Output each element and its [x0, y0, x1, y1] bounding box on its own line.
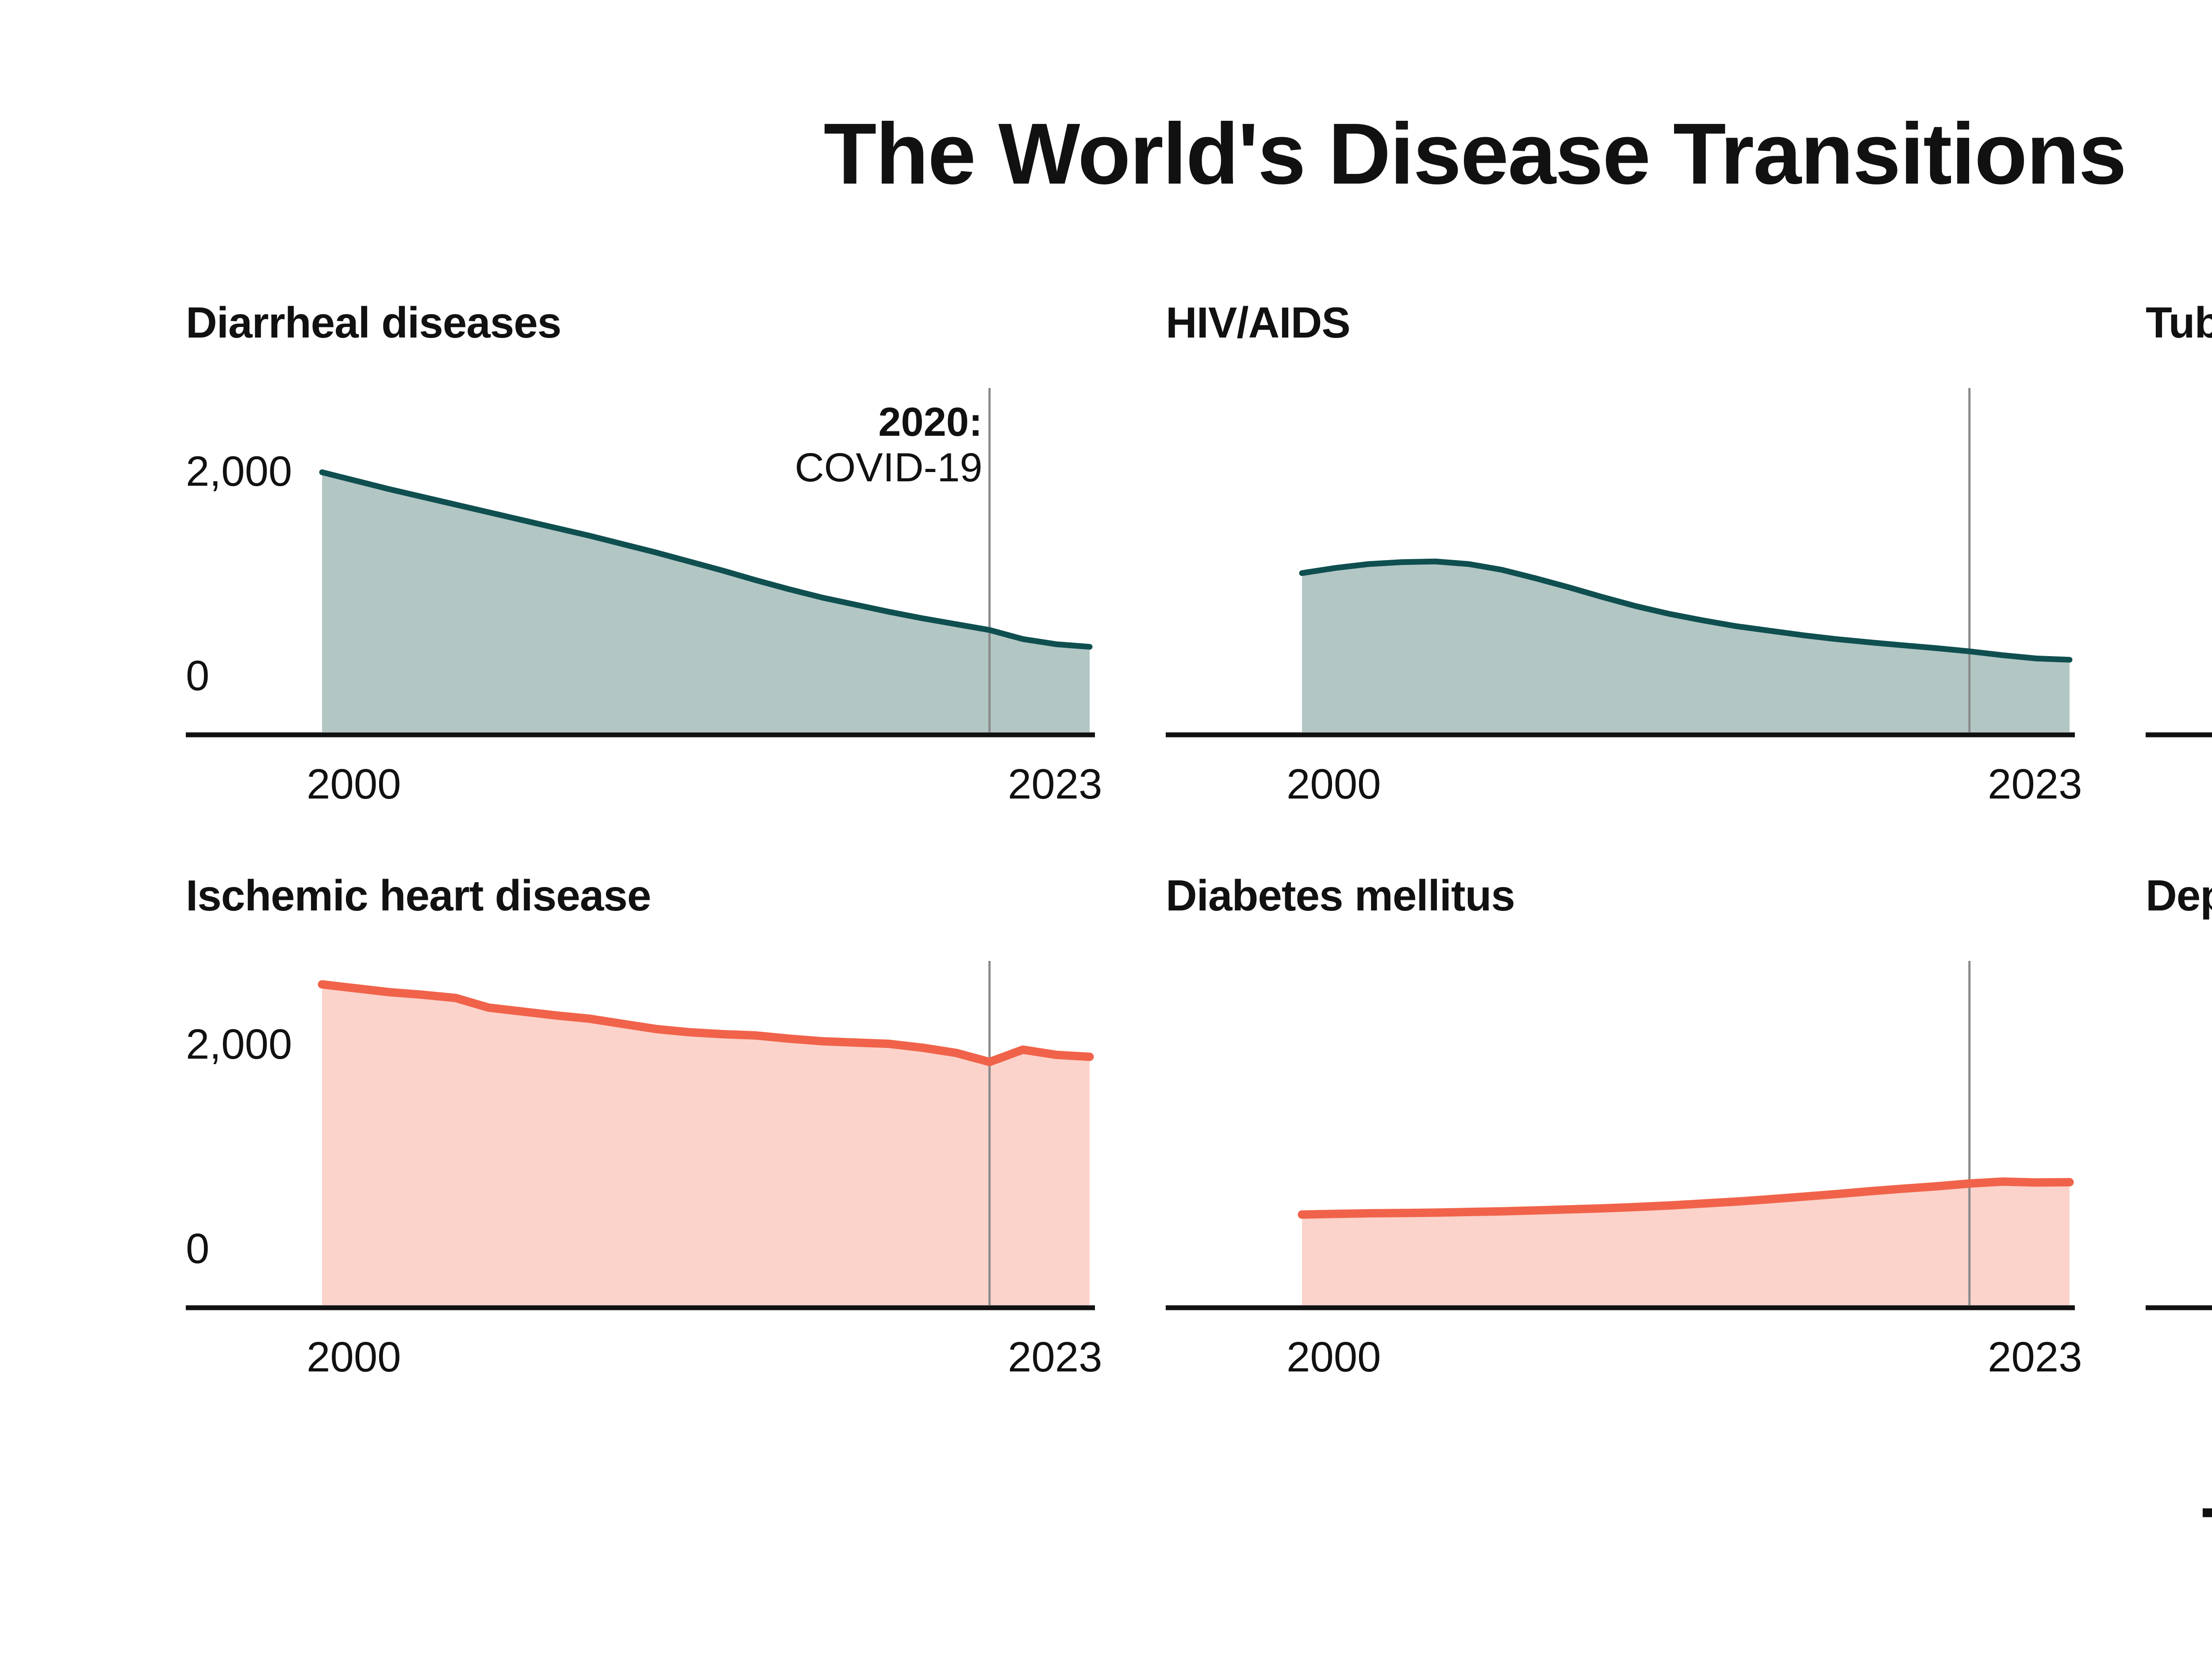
x-tick-label-end-diarrheal-diseases: 2023 — [1008, 763, 1102, 806]
x-tick-label-start-diarrheal-diseases: 2000 — [307, 763, 401, 806]
panel-title-diabetes-mellitus: Diabetes mellitus — [1166, 874, 1515, 917]
x-tick-label-end-hiv-aids: 2023 — [1988, 763, 2082, 806]
chart-page: The World's Disease Transitions Diarrhea… — [0, 0, 2212, 1659]
brand-logo: Think Global Health — [2202, 1496, 2212, 1575]
covid-annotation-label: COVID-19 — [795, 445, 982, 490]
area-fill-diarrheal-diseases — [322, 472, 1090, 732]
x-tick-label-start-diabetes-mellitus: 2000 — [1286, 1336, 1381, 1379]
panel-title-tuberculosis: Tuberculosis — [2146, 301, 2212, 344]
plot-area-depressive-disorders — [2146, 969, 2212, 1316]
covid-annotation-year: 2020: — [878, 399, 982, 445]
panel-title-diarrheal-diseases: Diarrheal diseases — [186, 301, 561, 344]
page-title: The World's Disease Transitions — [0, 111, 2212, 197]
plot-area-tuberculosis — [2146, 396, 2212, 743]
covid-annotation: 2020:COVID-19 — [186, 399, 983, 491]
small-multiples-grid: Diarrheal diseases2,0000200020232020:COV… — [186, 301, 2212, 1433]
panel-title-depressive-disorders: Depressive disorders — [2146, 874, 2212, 917]
x-tick-label-end-diabetes-mellitus: 2023 — [1988, 1336, 2082, 1379]
y-tick-label-2000: 2,000 — [186, 1023, 292, 1066]
y-tick-label-0: 0 — [186, 655, 209, 697]
y-tick-label-0: 0 — [186, 1228, 209, 1270]
area-fill-hiv-aids — [1302, 561, 2070, 732]
plot-area-diabetes-mellitus — [1166, 969, 2096, 1316]
x-tick-label-start-ischemic-heart-disease: 2000 — [307, 1336, 401, 1379]
x-tick-label-end-ischemic-heart-disease: 2023 — [1008, 1336, 1102, 1379]
area-fill-diabetes-mellitus — [1302, 1182, 2070, 1305]
panel-title-ischemic-heart-disease: Ischemic heart disease — [186, 874, 651, 917]
x-tick-label-start-hiv-aids: 2000 — [1286, 763, 1381, 806]
panel-title-hiv-aids: HIV/AIDS — [1166, 301, 1350, 344]
plot-area-hiv-aids — [1166, 396, 2096, 743]
plot-area-ischemic-heart-disease — [186, 969, 1116, 1316]
